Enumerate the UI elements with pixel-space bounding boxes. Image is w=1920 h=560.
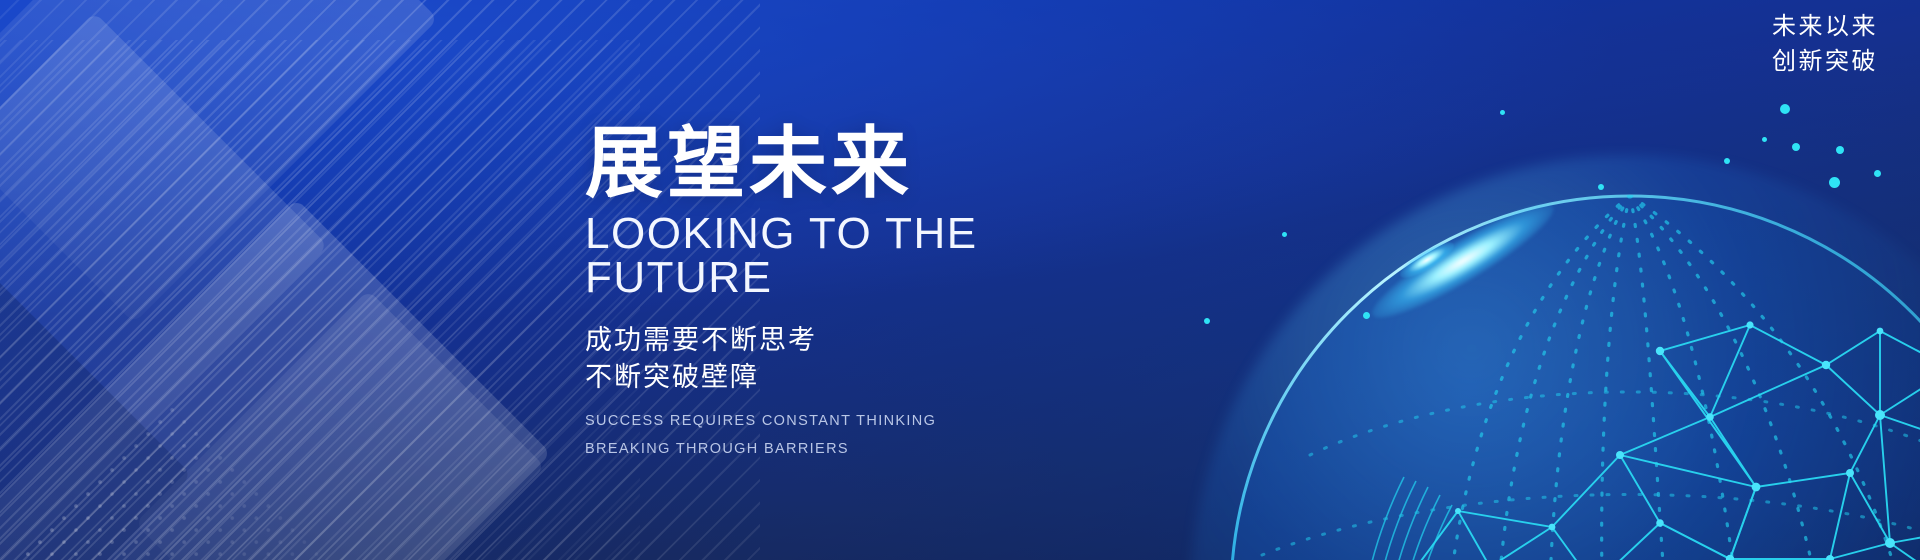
tagline-cn-line2: 不断突破壁障	[585, 359, 1145, 396]
corner-tagline-line1: 未来以来	[1772, 10, 1878, 45]
particle	[1363, 312, 1370, 319]
page-subtitle-en: LOOKING TO THE FUTURE	[585, 212, 1145, 300]
particle	[1598, 184, 1604, 190]
page-title: 展望未来	[585, 124, 1145, 202]
particle	[1204, 318, 1210, 324]
hero-copy: 展望未来 LOOKING TO THE FUTURE 成功需要不断思考 不断突破…	[585, 124, 1145, 463]
particle	[1874, 170, 1881, 177]
particle	[1762, 137, 1767, 142]
tagline-cn-line1: 成功需要不断思考	[585, 322, 1145, 359]
particle	[1836, 146, 1844, 154]
banner-hero: 展望未来 LOOKING TO THE FUTURE 成功需要不断思考 不断突破…	[0, 0, 1920, 560]
tagline-en-line2: BREAKING THROUGH BARRIERS	[585, 435, 1145, 463]
particle	[1282, 232, 1287, 237]
corner-tagline-line2: 创新突破	[1772, 45, 1878, 80]
particle	[1724, 158, 1730, 164]
tagline-en-line1: SUCCESS REQUIRES CONSTANT THINKING	[585, 407, 1145, 435]
particle	[1780, 104, 1790, 114]
wireframe-globe	[1190, 155, 1920, 560]
corner-tagline: 未来以来 创新突破	[1772, 10, 1878, 80]
particle	[1500, 110, 1505, 115]
particle	[1792, 143, 1800, 151]
particle	[1829, 177, 1840, 188]
globe-wireframe-svg	[1190, 155, 1920, 560]
